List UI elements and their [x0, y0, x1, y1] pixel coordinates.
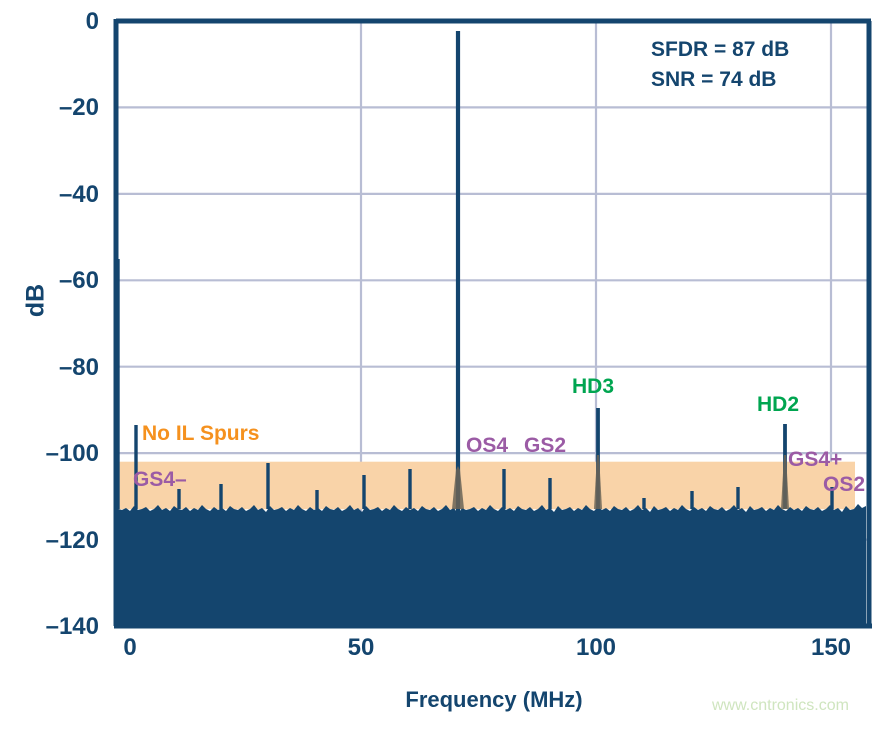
annotation-os2: OS2: [823, 473, 865, 497]
annotation-hd2: HD2: [757, 393, 799, 417]
x-tick-50: 50: [316, 634, 406, 662]
annotation-gs2: GS2: [524, 434, 566, 458]
x-tick-150: 150: [786, 634, 876, 662]
x-tick-0: 0: [85, 634, 175, 662]
y-axis-label: dB: [22, 271, 51, 331]
spectrum-body: [118, 504, 866, 626]
y-tick-0: 0: [0, 8, 99, 36]
annotation-no-il-spurs: No IL Spurs: [142, 422, 259, 446]
annotation-os4: OS4: [466, 434, 508, 458]
annotation-snr: SNR = 74 dB: [651, 68, 776, 92]
annotation-gs4-plus: GS4+: [788, 448, 842, 472]
y-tick-m40: –40: [0, 181, 99, 209]
annotation-sfdr: SFDR = 87 dB: [651, 38, 789, 62]
shaded-spur-band: [116, 462, 855, 510]
annotation-hd3: HD3: [572, 375, 614, 399]
annotation-gs4-minus: GS4–: [133, 468, 187, 492]
y-tick-m80: –80: [0, 354, 99, 382]
watermark: www.cntronics.com: [712, 697, 849, 715]
y-tick-m120: –120: [0, 527, 99, 555]
x-tick-100: 100: [551, 634, 641, 662]
y-tick-m20: –20: [0, 94, 99, 122]
spectrum-plot: [0, 0, 896, 729]
y-tick-m100: –100: [0, 440, 99, 468]
